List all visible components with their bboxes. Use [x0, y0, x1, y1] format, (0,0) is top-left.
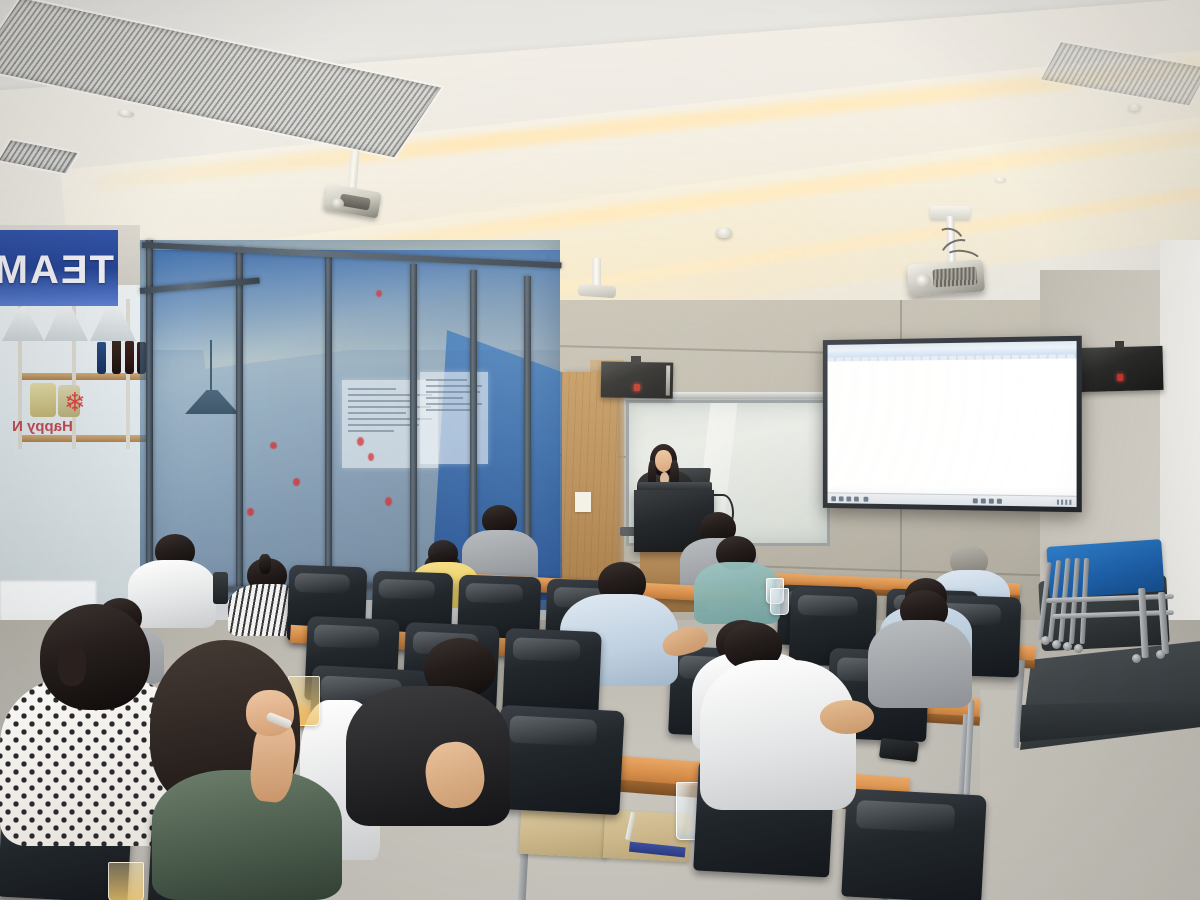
attendee-front-right-hand — [820, 700, 874, 734]
projection-screen-image — [828, 341, 1077, 507]
team-banner-text: TEAM — [2, 248, 114, 293]
pendant-lamp-white — [2, 307, 44, 341]
red-marker-dot — [357, 437, 364, 446]
chair-row2-3 — [502, 628, 602, 718]
document-folder — [519, 810, 609, 859]
projector-vent-right — [932, 266, 977, 287]
ceiling-fan-downrod — [592, 258, 601, 288]
cafe-area-behind-glass: ❄ — [0, 285, 150, 615]
pendant-lamp-white — [44, 303, 88, 341]
juice-cup — [108, 862, 144, 900]
conference-room-photo: ❄ Happy N TEAM — [0, 0, 1200, 900]
glass-mullion — [410, 264, 417, 600]
wall-speaker-right — [1076, 346, 1163, 392]
glass-blue-film — [150, 250, 560, 360]
attendee-green-top-body — [152, 770, 342, 900]
red-marker-dot — [376, 290, 382, 297]
attendee-polka-dot-ponytail — [58, 644, 86, 686]
smoke-detector — [716, 227, 732, 238]
attendee-grey-polo-body — [868, 620, 972, 708]
speaker-bracket-left — [631, 356, 641, 364]
attendee-front-right-body — [700, 660, 856, 810]
cafe-shelf-upright — [126, 299, 130, 449]
cafe-canister — [30, 383, 56, 417]
chair-front-5 — [841, 788, 986, 900]
glass-mullion — [325, 256, 332, 600]
wall-notice — [575, 492, 591, 512]
red-marker-dot — [270, 442, 277, 449]
red-marker-dot — [385, 497, 392, 506]
speaker-bracket-right — [1115, 341, 1124, 348]
trolley-caster — [1132, 654, 1141, 663]
snowflake-decoration: ❄ — [64, 387, 86, 418]
greeting-text: Happy N — [12, 418, 73, 435]
ceiling-fan-motor — [578, 284, 617, 299]
wine-bottle — [112, 340, 121, 374]
screen-taskbar-clock — [1057, 500, 1074, 505]
trolley-caster — [1156, 650, 1165, 659]
wine-bottle — [97, 342, 106, 374]
recessed-downlight — [995, 177, 1006, 182]
drinking-glass — [770, 588, 789, 615]
red-marker-dot — [368, 453, 374, 461]
attendee-polka-dot-hair — [40, 604, 150, 710]
red-marker-dot — [293, 478, 300, 486]
screen-taskbar — [828, 492, 1077, 507]
cafe-shelf — [22, 435, 150, 442]
smoke-detector — [1128, 103, 1141, 111]
water-bottle — [213, 572, 228, 604]
wall-speaker-left — [601, 361, 674, 398]
cafe-shelf — [22, 373, 150, 380]
chair-front-3 — [495, 705, 624, 815]
glass-mullion — [146, 240, 153, 600]
wine-bottle — [125, 341, 134, 374]
folding-chair-frames — [1040, 558, 1098, 654]
attendee-striped-top-hair-strand — [259, 554, 271, 574]
red-marker-dot — [247, 508, 254, 516]
projection-screen — [823, 336, 1082, 513]
reflected-notice-board — [420, 372, 488, 464]
glass-mullion — [236, 247, 243, 599]
